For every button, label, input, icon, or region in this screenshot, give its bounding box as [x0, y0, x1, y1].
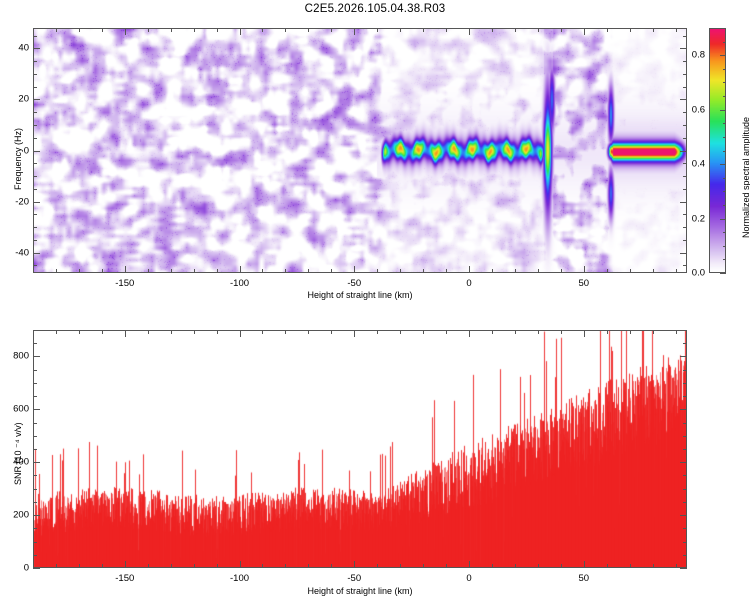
minor-xtick [262, 269, 263, 273]
major-ytick [33, 99, 40, 100]
minor-xtick [148, 28, 149, 32]
minor-ytick [683, 265, 687, 266]
minor-ytick [33, 227, 37, 228]
minor-xtick [446, 28, 447, 32]
snr-ylabel: SNR (10 ⁻⁴ v/v) [13, 422, 24, 485]
minor-ytick [683, 542, 687, 543]
xtick-label: -150 [115, 573, 134, 584]
major-ytick [33, 253, 40, 254]
minor-ytick [33, 423, 37, 424]
minor-ytick [683, 489, 687, 490]
minor-xtick [148, 564, 149, 568]
minor-ytick [683, 330, 687, 331]
minor-xtick [630, 564, 631, 568]
minor-ytick [33, 528, 37, 529]
major-xtick [125, 561, 126, 568]
colorbar-label: Normalized spectral amplitude [741, 117, 750, 238]
minor-xtick [492, 330, 493, 334]
minor-xtick [561, 269, 562, 273]
ytick-label: 20 [3, 94, 29, 105]
minor-xtick [308, 269, 309, 273]
major-ytick [33, 48, 40, 49]
minor-ytick [33, 125, 37, 126]
minor-xtick [148, 269, 149, 273]
xtick-label: 50 [578, 278, 589, 289]
colorbar-minor-tick [723, 151, 726, 152]
major-xtick [584, 28, 585, 35]
major-xtick [240, 561, 241, 568]
ytick-label: -40 [3, 247, 29, 258]
minor-xtick [331, 330, 332, 334]
minor-ytick [33, 61, 37, 62]
minor-xtick [308, 564, 309, 568]
colorbar-tick-label: 0.4 [677, 159, 705, 170]
minor-xtick [446, 269, 447, 273]
ytick-label: 600 [3, 404, 29, 415]
minor-xtick [492, 564, 493, 568]
snr-trace [34, 331, 686, 567]
minor-ytick [683, 383, 687, 384]
minor-ytick [33, 176, 37, 177]
major-xtick [354, 330, 355, 337]
minor-ytick [33, 436, 37, 437]
minor-xtick [148, 330, 149, 334]
minor-xtick [171, 564, 172, 568]
minor-xtick [331, 28, 332, 32]
minor-xtick [377, 330, 378, 334]
minor-xtick [285, 330, 286, 334]
minor-ytick [33, 343, 37, 344]
xtick-label: -50 [347, 278, 361, 289]
minor-ytick [683, 189, 687, 190]
minor-ytick [683, 240, 687, 241]
major-xtick [240, 266, 241, 273]
minor-ytick [33, 330, 37, 331]
minor-ytick [33, 138, 37, 139]
minor-xtick [377, 269, 378, 273]
minor-xtick [515, 269, 516, 273]
ytick-label: 40 [3, 43, 29, 54]
major-ytick [680, 356, 687, 357]
major-ytick [680, 202, 687, 203]
minor-ytick [33, 240, 37, 241]
minor-xtick [653, 269, 654, 273]
major-ytick [33, 151, 40, 152]
minor-xtick [171, 330, 172, 334]
major-ytick [33, 356, 40, 357]
minor-xtick [194, 269, 195, 273]
xtick-label: -50 [347, 573, 361, 584]
colorbar-tick-label: 0.8 [677, 50, 705, 61]
colorbar-major-tick [720, 55, 726, 56]
colorbar-major-tick [720, 219, 726, 220]
major-ytick [680, 515, 687, 516]
major-ytick [680, 151, 687, 152]
minor-ytick [683, 502, 687, 503]
colorbar-minor-tick [723, 82, 726, 83]
colorbar-minor-tick [723, 205, 726, 206]
minor-xtick [423, 330, 424, 334]
minor-xtick [79, 330, 80, 334]
minor-ytick [33, 449, 37, 450]
major-xtick [584, 561, 585, 568]
minor-xtick [102, 28, 103, 32]
minor-xtick [400, 330, 401, 334]
minor-xtick [285, 564, 286, 568]
minor-ytick [683, 449, 687, 450]
minor-xtick [56, 564, 57, 568]
major-ytick [680, 409, 687, 410]
minor-xtick [194, 564, 195, 568]
minor-xtick [56, 269, 57, 273]
minor-xtick [492, 269, 493, 273]
colorbar-tick-label: 0.2 [677, 213, 705, 224]
minor-ytick [683, 36, 687, 37]
minor-ytick [33, 370, 37, 371]
minor-xtick [607, 28, 608, 32]
colorbar-major-tick [720, 164, 726, 165]
major-xtick [469, 330, 470, 337]
minor-xtick [423, 28, 424, 32]
minor-xtick [607, 269, 608, 273]
major-ytick [680, 99, 687, 100]
minor-xtick [79, 28, 80, 32]
major-ytick [33, 515, 40, 516]
minor-ytick [683, 74, 687, 75]
ytick-label: 800 [3, 351, 29, 362]
minor-xtick [630, 269, 631, 273]
minor-xtick [446, 564, 447, 568]
minor-ytick [683, 555, 687, 556]
minor-xtick [515, 28, 516, 32]
minor-xtick [607, 564, 608, 568]
minor-ytick [683, 396, 687, 397]
colorbar-minor-tick [723, 69, 726, 70]
major-ytick [680, 462, 687, 463]
major-xtick [125, 330, 126, 337]
minor-ytick [33, 383, 37, 384]
minor-xtick [285, 269, 286, 273]
colorbar-minor-tick [723, 232, 726, 233]
minor-ytick [33, 555, 37, 556]
ytick-label: -20 [3, 196, 29, 207]
minor-xtick [561, 564, 562, 568]
minor-xtick [630, 28, 631, 32]
ytick-label: 200 [3, 510, 29, 521]
minor-xtick [33, 269, 34, 273]
minor-xtick [262, 28, 263, 32]
minor-xtick [217, 269, 218, 273]
minor-xtick [653, 28, 654, 32]
minor-xtick [423, 269, 424, 273]
major-ytick [33, 202, 40, 203]
major-xtick [240, 330, 241, 337]
minor-ytick [33, 265, 37, 266]
minor-xtick [515, 330, 516, 334]
minor-xtick [400, 269, 401, 273]
minor-ytick [683, 423, 687, 424]
minor-ytick [683, 138, 687, 139]
minor-xtick [194, 28, 195, 32]
minor-ytick [683, 176, 687, 177]
figure-title: C2E5.2026.105.04.38.R03 [0, 3, 750, 15]
minor-ytick [33, 163, 37, 164]
minor-ytick [683, 125, 687, 126]
major-ytick [33, 462, 40, 463]
major-xtick [354, 28, 355, 35]
minor-xtick [308, 330, 309, 334]
minor-xtick [331, 269, 332, 273]
major-ytick [680, 253, 687, 254]
major-ytick [33, 409, 40, 410]
spectrogram-ylabel: Frequency (Hz) [13, 128, 23, 190]
minor-xtick [171, 269, 172, 273]
minor-xtick [676, 564, 677, 568]
minor-xtick [262, 330, 263, 334]
colorbar-minor-tick [723, 123, 726, 124]
minor-xtick [653, 330, 654, 334]
colorbar-minor-tick [723, 191, 726, 192]
minor-xtick [653, 564, 654, 568]
minor-xtick [446, 330, 447, 334]
minor-xtick [607, 330, 608, 334]
colorbar-minor-tick [723, 42, 726, 43]
minor-ytick [683, 370, 687, 371]
minor-ytick [33, 214, 37, 215]
minor-ytick [33, 475, 37, 476]
minor-ytick [683, 528, 687, 529]
minor-xtick [538, 330, 539, 334]
minor-ytick [33, 36, 37, 37]
minor-xtick [492, 28, 493, 32]
minor-ytick [33, 396, 37, 397]
minor-xtick [171, 28, 172, 32]
major-xtick [584, 266, 585, 273]
major-xtick [125, 28, 126, 35]
minor-xtick [515, 564, 516, 568]
minor-ytick [683, 87, 687, 88]
minor-xtick [400, 28, 401, 32]
minor-xtick [56, 330, 57, 334]
major-ytick [680, 568, 687, 569]
minor-xtick [538, 269, 539, 273]
colorbar-major-tick [720, 273, 726, 274]
minor-xtick [561, 330, 562, 334]
minor-ytick [683, 475, 687, 476]
colorbar-minor-tick [723, 246, 726, 247]
minor-ytick [33, 87, 37, 88]
snr-panel [33, 330, 687, 568]
major-xtick [354, 266, 355, 273]
minor-ytick [683, 436, 687, 437]
minor-xtick [377, 28, 378, 32]
figure-root: C2E5.2026.105.04.38.R03 -150-100-50050-4… [0, 0, 750, 600]
colorbar-minor-tick [723, 178, 726, 179]
minor-ytick [683, 61, 687, 62]
major-xtick [469, 28, 470, 35]
minor-ytick [683, 343, 687, 344]
xtick-label: -150 [115, 278, 134, 289]
major-xtick [354, 561, 355, 568]
minor-xtick [423, 564, 424, 568]
minor-xtick [676, 330, 677, 334]
major-xtick [240, 28, 241, 35]
minor-xtick [217, 564, 218, 568]
minor-xtick [194, 330, 195, 334]
minor-ytick [33, 542, 37, 543]
minor-ytick [33, 189, 37, 190]
minor-xtick [630, 330, 631, 334]
minor-xtick [377, 564, 378, 568]
minor-xtick [285, 28, 286, 32]
minor-xtick [79, 564, 80, 568]
minor-xtick [217, 28, 218, 32]
major-xtick [469, 266, 470, 273]
minor-xtick [308, 28, 309, 32]
minor-xtick [56, 28, 57, 32]
minor-ytick [33, 502, 37, 503]
minor-xtick [538, 564, 539, 568]
major-ytick [33, 568, 40, 569]
colorbar-minor-tick [723, 137, 726, 138]
xtick-label: -100 [230, 278, 249, 289]
spectrogram-image [34, 29, 686, 272]
minor-ytick [33, 112, 37, 113]
minor-ytick [683, 227, 687, 228]
colorbar-minor-tick [723, 259, 726, 260]
xtick-label: 0 [466, 573, 471, 584]
colorbar-tick-label: 0.0 [677, 268, 705, 279]
minor-xtick [331, 564, 332, 568]
minor-xtick [102, 269, 103, 273]
major-xtick [584, 330, 585, 337]
minor-xtick [33, 28, 34, 32]
xtick-label: -100 [230, 573, 249, 584]
minor-xtick [217, 330, 218, 334]
colorbar-minor-tick [723, 96, 726, 97]
minor-xtick [400, 564, 401, 568]
major-xtick [125, 266, 126, 273]
minor-xtick [102, 330, 103, 334]
major-xtick [469, 561, 470, 568]
minor-xtick [538, 28, 539, 32]
spectrogram-xlabel: Height of straight line (km) [307, 290, 412, 300]
minor-ytick [33, 74, 37, 75]
colorbar-tick-label: 0.6 [677, 104, 705, 115]
xtick-label: 50 [578, 573, 589, 584]
minor-xtick [676, 28, 677, 32]
minor-xtick [102, 564, 103, 568]
spectrogram-panel [33, 28, 687, 273]
ytick-label: 0 [3, 563, 29, 574]
minor-xtick [561, 28, 562, 32]
snr-xlabel: Height of straight line (km) [307, 586, 412, 596]
xtick-label: 0 [466, 278, 471, 289]
colorbar-major-tick [720, 110, 726, 111]
minor-ytick [33, 489, 37, 490]
minor-xtick [79, 269, 80, 273]
minor-xtick [262, 564, 263, 568]
